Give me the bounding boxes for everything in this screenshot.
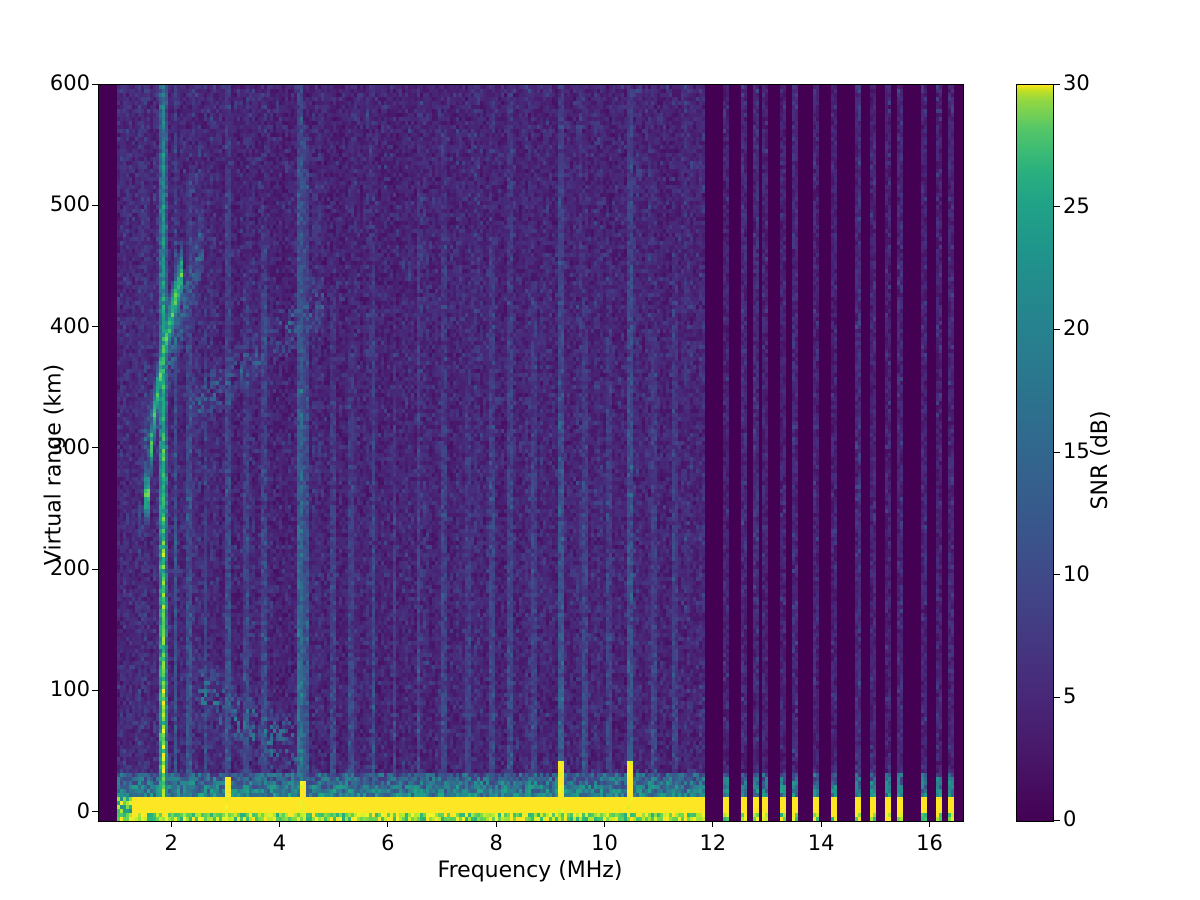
colorbar-tick-label: 10 <box>1063 564 1090 585</box>
x-tick-label: 14 <box>791 831 851 855</box>
x-tick-label: 6 <box>358 831 418 855</box>
x-tick-mark <box>604 821 605 827</box>
colorbar-tick-label: 0 <box>1063 809 1076 830</box>
y-tick-label: 600 <box>0 73 90 94</box>
y-tick-label: 100 <box>0 679 90 700</box>
x-tick-mark <box>171 821 172 827</box>
y-axis-label: Virtual range (km) <box>42 295 67 635</box>
x-tick-label: 2 <box>141 831 201 855</box>
colorbar <box>1016 84 1054 822</box>
x-tick-label: 16 <box>899 831 959 855</box>
x-tick-mark <box>387 821 388 827</box>
y-tick-mark <box>92 205 98 206</box>
colorbar-tick-mark <box>1054 329 1060 330</box>
colorbar-tick-mark <box>1054 206 1060 207</box>
x-axis-label: Frequency (MHz) <box>98 858 962 883</box>
x-tick-label: 4 <box>249 831 309 855</box>
ionogram-plot-area <box>98 84 964 822</box>
x-tick-mark <box>279 821 280 827</box>
y-tick-mark <box>92 447 98 448</box>
colorbar-tick-label: 15 <box>1063 441 1090 462</box>
x-tick-mark <box>929 821 930 827</box>
y-tick-mark <box>92 84 98 85</box>
ionogram-figure: IRF Uppsala SDR Ionosonde UP158 2026-01-… <box>0 0 1200 900</box>
y-tick-mark <box>92 569 98 570</box>
colorbar-tick-label: 20 <box>1063 318 1090 339</box>
colorbar-tick-mark <box>1054 452 1060 453</box>
x-tick-mark <box>712 821 713 827</box>
colorbar-tick-mark <box>1054 84 1060 85</box>
colorbar-tick-mark <box>1054 820 1060 821</box>
colorbar-tick-label: 5 <box>1063 686 1076 707</box>
x-tick-label: 10 <box>574 831 634 855</box>
colorbar-tick-mark <box>1054 574 1060 575</box>
y-tick-mark <box>92 690 98 691</box>
y-tick-mark <box>92 326 98 327</box>
x-tick-mark <box>496 821 497 827</box>
y-tick-mark <box>92 811 98 812</box>
ionogram-heatmap <box>99 85 963 821</box>
x-tick-mark <box>821 821 822 827</box>
colorbar-tick-mark <box>1054 697 1060 698</box>
x-tick-label: 8 <box>466 831 526 855</box>
colorbar-tick-label: 25 <box>1063 196 1090 217</box>
y-tick-label: 0 <box>0 801 90 822</box>
x-tick-label: 12 <box>683 831 743 855</box>
colorbar-tick-label: 30 <box>1063 73 1090 94</box>
y-tick-label: 500 <box>0 194 90 215</box>
colorbar-label: SNR (dB) <box>1088 330 1113 590</box>
